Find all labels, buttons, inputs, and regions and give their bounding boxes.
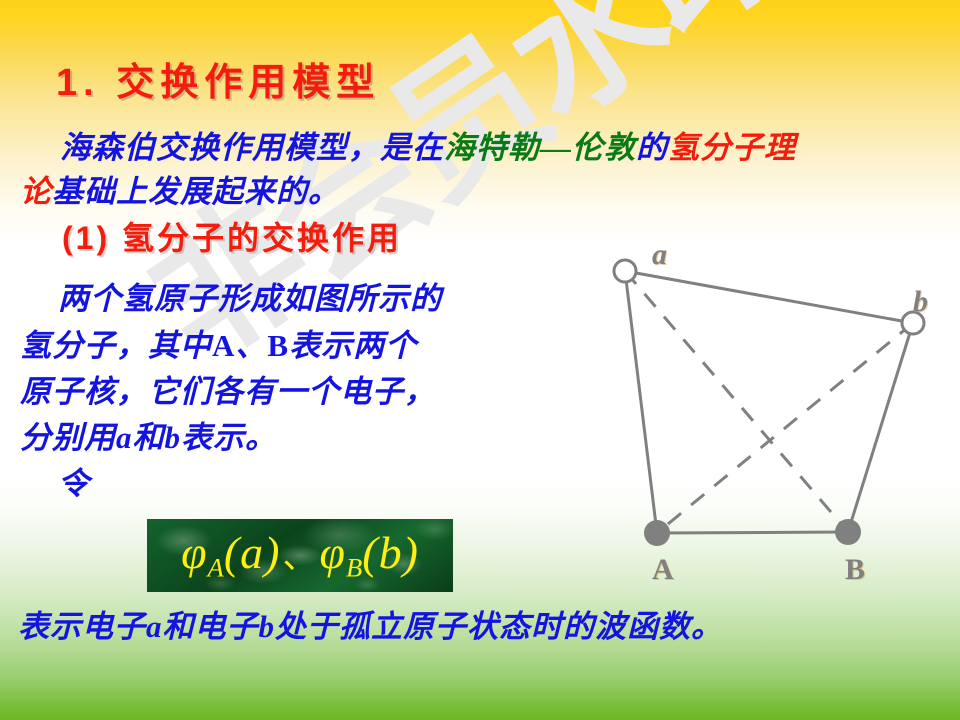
paragraph1-line1: 海森伯交换作用模型，是在海特勒—伦敦的氢分子理 xyxy=(60,132,796,163)
paragraph2-line4: 分别用a和b表示。 xyxy=(20,422,277,453)
p2-seg-1: 氢分子，其中 xyxy=(20,328,212,363)
edge-a-A xyxy=(625,271,657,533)
bottom-seg-1: 表示电子 xyxy=(18,609,146,644)
formula-phi-2: φ xyxy=(320,527,346,578)
p1-seg-green: 海特勒—伦敦 xyxy=(444,130,636,165)
diagram-label-B: B xyxy=(845,555,865,585)
diagram-label-A: A xyxy=(652,555,674,585)
p1-seg-blue-2: 的 xyxy=(636,130,668,165)
electron-a-node xyxy=(614,260,636,282)
formula-arg-a: (a) xyxy=(224,527,281,578)
p2-label-B: B xyxy=(267,328,289,363)
p1-seg-red-2: 论 xyxy=(20,174,52,209)
bottom-seg-3: 处于孤立原子状态时的波函数。 xyxy=(275,609,723,644)
p1-seg-blue-1: 海森伯交换作用模型，是在 xyxy=(60,130,444,165)
edge-b-A xyxy=(657,323,913,533)
p2-seg-6: 表示。 xyxy=(181,420,277,455)
p2-var-a: a xyxy=(116,420,133,455)
formula-phi-1: φ xyxy=(181,527,207,578)
edge-A-B xyxy=(657,532,848,533)
diagram-label-a: a xyxy=(652,240,667,270)
paragraph2-line5: 令 xyxy=(58,468,90,499)
paragraph1-line2: 论基础上发展起来的。 xyxy=(20,176,340,207)
bottom-caption: 表示电子a和电子b处于孤立原子状态时的波函数。 xyxy=(18,611,723,642)
hydrogen-molecule-diagram: a b A B xyxy=(600,230,960,600)
paragraph2-line3: 原子核，它们各有一个电子， xyxy=(20,376,436,407)
formula-arg-b: (b) xyxy=(362,527,419,578)
edge-b-B xyxy=(848,323,913,532)
p2-label-A: A xyxy=(212,328,235,363)
p2-var-b: b xyxy=(165,420,182,455)
p2-seg-3: 表示两个 xyxy=(289,328,417,363)
slide-canvas: 非会员水印 1. 交换作用模型 海森伯交换作用模型，是在海特勒—伦敦的氢分子理 … xyxy=(0,0,960,720)
nucleus-A-node xyxy=(644,520,670,546)
diagram-svg xyxy=(600,230,960,600)
bottom-seg-2: 和电子 xyxy=(163,609,259,644)
bottom-var-b: b xyxy=(259,609,276,644)
formula-expression: φA(a)、φB(b) xyxy=(181,530,419,581)
formula-sub-A: A xyxy=(208,552,224,582)
diagram-label-b: b xyxy=(913,287,928,317)
paragraph2-line1: 两个氢原子形成如图所示的 xyxy=(58,283,442,314)
p2-seg-5: 和 xyxy=(133,420,165,455)
section-subheading: (1) 氢分子的交换作用 xyxy=(62,222,402,254)
p1-seg-blue-3: 基础上发展起来的。 xyxy=(52,174,340,209)
formula-image-box: φA(a)、φB(b) xyxy=(147,519,453,592)
formula-sub-B: B xyxy=(346,552,362,582)
edge-a-b xyxy=(625,271,913,323)
bottom-var-a: a xyxy=(146,609,163,644)
p2-seg-4: 分别用 xyxy=(20,420,116,455)
p2-seg-2: 、 xyxy=(235,328,267,363)
nucleus-B-node xyxy=(835,519,861,545)
page-title: 1. 交换作用模型 xyxy=(56,64,380,102)
p1-seg-red-1: 氢分子理 xyxy=(668,130,796,165)
edge-a-B xyxy=(625,271,848,532)
formula-separator: 、 xyxy=(280,539,319,576)
paragraph2-line2: 氢分子，其中A、B表示两个 xyxy=(20,330,417,361)
